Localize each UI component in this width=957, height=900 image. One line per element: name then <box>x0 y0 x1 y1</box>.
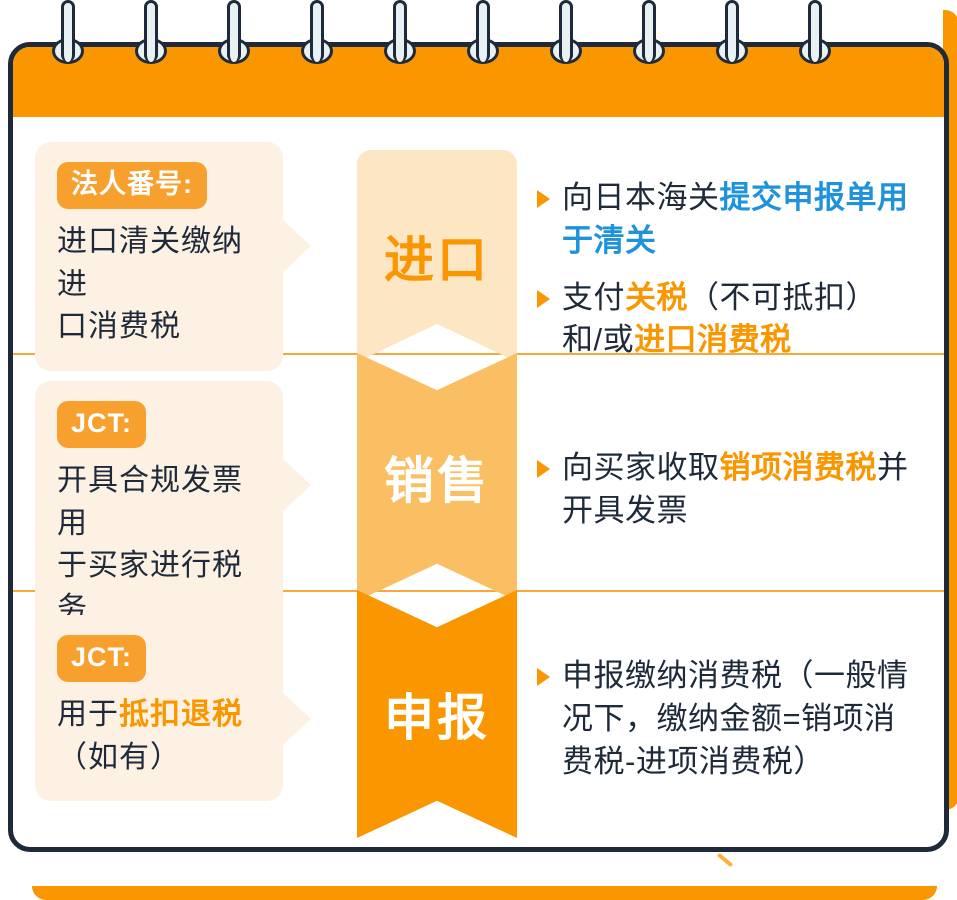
bubble-tail-declare <box>283 693 311 745</box>
banner-import[interactable]: 进口 <box>357 150 517 362</box>
page-edge-bottom <box>32 886 937 900</box>
badge-declare: JCT: <box>57 635 146 682</box>
badge-sales: JCT: <box>57 401 146 448</box>
bullet-text: 支付关税（不可抵扣）和/或进口消费税 <box>562 277 914 363</box>
bubble-import[interactable]: 法人番号: 进口清关缴纳进 口消费税 <box>35 142 283 371</box>
banner-declare[interactable]: 申报 <box>357 590 517 838</box>
notebook-page: 法人番号: 进口清关缴纳进 口消费税 进口 向日本海关提交申报单用于清关 支付关… <box>8 42 949 852</box>
bullet-item: 向买家收取销项消费税并开具发票 <box>537 447 914 533</box>
bubble-declare[interactable]: JCT: 用于抵扣退税 （如有） <box>35 615 283 801</box>
bubble-tail-sales <box>283 459 311 511</box>
bullets-import: 向日本海关提交申报单用于清关 支付关税（不可抵扣）和/或进口消费税 <box>537 177 914 376</box>
page-corner-mark <box>717 853 733 868</box>
banner-label-declare: 申报 <box>384 678 490 750</box>
notebook-header-band <box>13 47 944 117</box>
bullet-item: 支付关税（不可抵扣）和/或进口消费税 <box>537 277 914 363</box>
banner-label-sales: 销售 <box>384 441 490 513</box>
bullets-sales: 向买家收取销项消费税并开具发票 <box>537 447 914 547</box>
badge-import: 法人番号: <box>57 162 207 209</box>
bubble-text-import: 进口清关缴纳进 口消费税 <box>57 221 261 349</box>
bullet-item: 申报缴纳消费税（一般情况下，缴纳金额=销项消费税-进项消费税） <box>537 655 914 783</box>
bullets-declare: 申报缴纳消费税（一般情况下，缴纳金额=销项消费税-进项消费税） <box>537 655 914 797</box>
bullet-arrow-icon <box>537 290 550 308</box>
bullet-arrow-icon <box>537 668 550 686</box>
bullet-text: 向日本海关提交申报单用于清关 <box>562 177 914 263</box>
banner-sales[interactable]: 销售 <box>357 353 517 601</box>
bullet-text: 向买家收取销项消费税并开具发票 <box>562 447 914 533</box>
bullet-arrow-icon <box>537 190 550 208</box>
bubble-text-declare: 用于抵扣退税 （如有） <box>57 694 261 779</box>
banner-label-import: 进口 <box>384 220 490 292</box>
bullet-item: 向日本海关提交申报单用于清关 <box>537 177 914 263</box>
bullet-arrow-icon <box>537 460 550 478</box>
bubble-tail-import <box>283 220 311 272</box>
bullet-text: 申报缴纳消费税（一般情况下，缴纳金额=销项消费税-进项消费税） <box>562 655 914 783</box>
